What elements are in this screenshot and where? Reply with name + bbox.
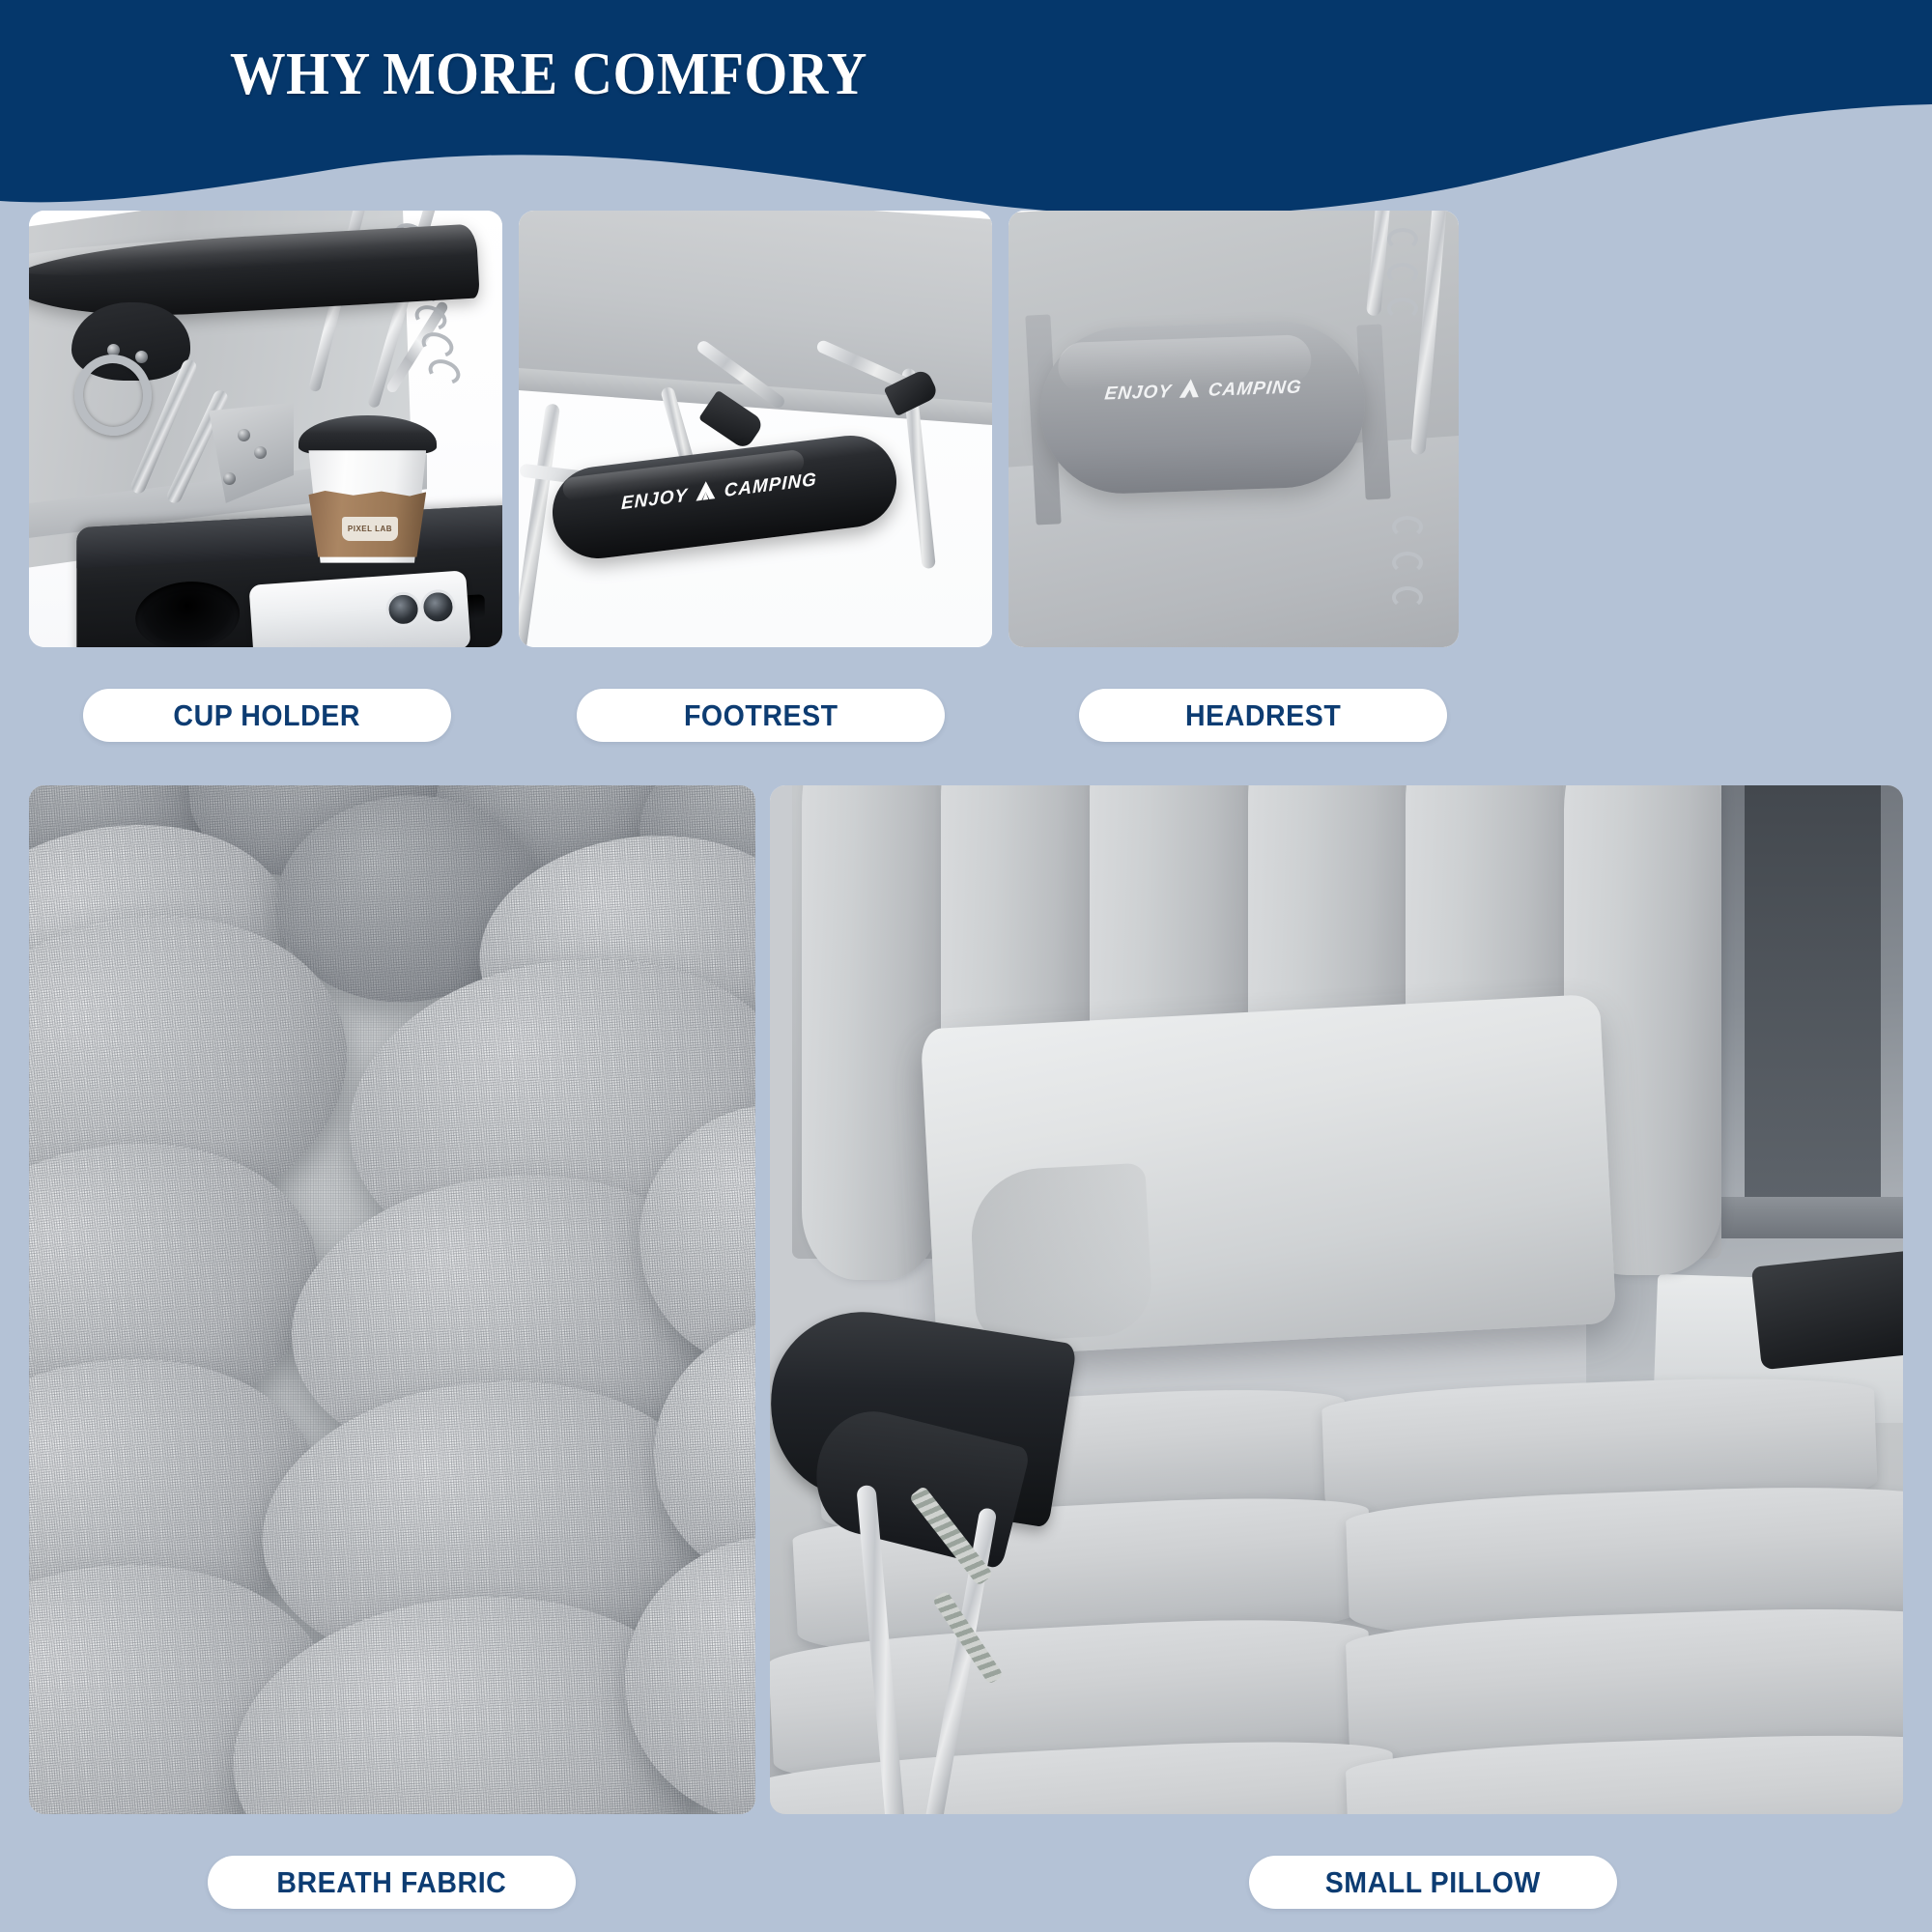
feature-photo-cup-holder: PIXEL LAB <box>29 211 502 647</box>
header-band: WHY MORE COMFORY <box>0 0 1932 222</box>
caption-pill-footrest: FOOTREST <box>577 689 945 742</box>
caption-label: SMALL PILLOW <box>1325 1865 1541 1900</box>
feature-photo-footrest: ENJOY CAMPING <box>519 211 992 647</box>
caption-label: HEADREST <box>1185 698 1341 733</box>
chair-armrest-right <box>1750 1251 1903 1370</box>
tent-icon <box>694 479 719 509</box>
caption-label: FOOTREST <box>684 698 838 733</box>
small-pillow <box>921 994 1617 1358</box>
caption-pill-headrest: HEADREST <box>1079 689 1447 742</box>
coffee-cup: PIXEL LAB <box>303 415 431 559</box>
headrest-pillow: ENJOY CAMPING <box>1037 319 1367 496</box>
cup-sleeve-brand-label: PIXEL LAB <box>342 517 398 541</box>
caption-pill-breath-fabric: BREATH FABRIC <box>208 1856 576 1909</box>
page-title: WHY MORE COMFORY <box>230 41 867 109</box>
caption-pill-cup-holder: CUP HOLDER <box>83 689 451 742</box>
tent-icon <box>1176 377 1204 405</box>
feature-photo-breath-fabric <box>29 785 755 1814</box>
feature-photo-small-pillow <box>770 785 1903 1814</box>
caption-label: CUP HOLDER <box>174 698 361 733</box>
brand-word-one: ENJOY <box>1103 382 1173 406</box>
header-wave-shape <box>0 0 1932 222</box>
feature-photo-headrest: ENJOY CAMPING <box>1009 211 1459 647</box>
brand-word-one: ENJOY <box>621 486 688 516</box>
brand-word-two: CAMPING <box>1207 377 1302 401</box>
infographic-page: WHY MORE COMFORY <box>0 0 1932 1932</box>
caption-label: BREATH FABRIC <box>277 1865 507 1900</box>
caption-pill-small-pillow: SMALL PILLOW <box>1249 1856 1617 1909</box>
